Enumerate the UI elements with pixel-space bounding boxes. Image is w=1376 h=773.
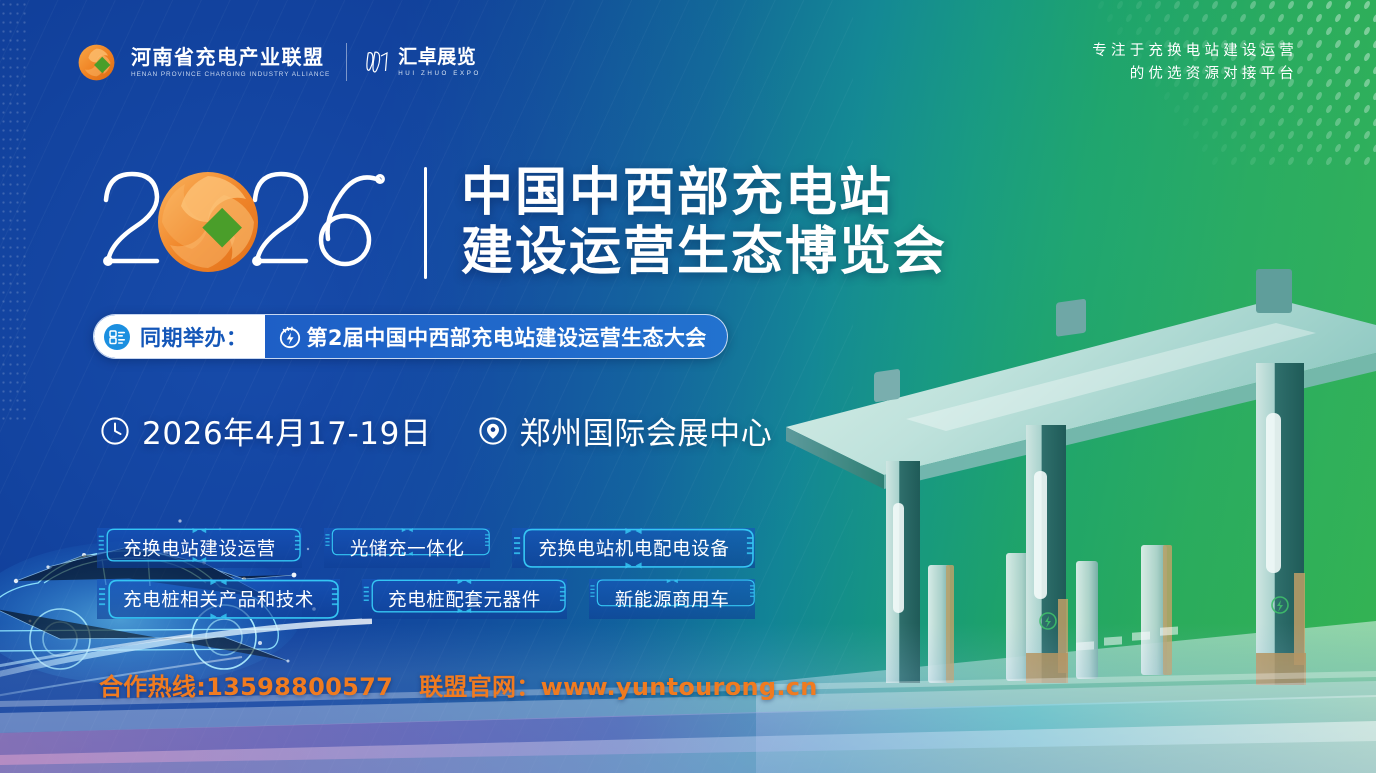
topic-tag-grid: 充换电站建设运营 光储充一体化 — [97, 528, 755, 619]
logo-lockup: 河南省充电产业联盟 HENAN PROVINCE CHARGING INDUST… — [78, 43, 481, 81]
alliance-name-en: HENAN PROVINCE CHARGING INDUSTRY ALLIANC… — [131, 71, 330, 78]
coevent-conference-name: 第2届中国中西部充电站建设运营生态大会 — [307, 322, 707, 352]
coevent-label: 同期举办： — [140, 322, 248, 352]
event-meta: 2026年4月17-19日 郑州国际会展中心 — [100, 408, 772, 453]
topic-tag[interactable]: 光储充一体化 — [324, 528, 491, 568]
hero-title-block: 中国中西部充电站 建设运营生态博览会 — [92, 160, 947, 285]
event-venue: 郑州国际会展中心 — [520, 408, 773, 453]
coevent-banner[interactable]: 同期举办： 第2届中国中西部充电站建设运营生态大会 — [93, 314, 728, 359]
topic-tag-label: 新能源商用车 — [615, 586, 730, 612]
expo-name-en: HUI ZHUO EXPO — [398, 70, 481, 77]
coevent-left-section: 同期举办： — [94, 315, 265, 358]
charging-station-illustration — [756, 213, 1376, 773]
topic-tag-row-1: 充换电站建设运营 光储充一体化 — [97, 528, 755, 568]
alliance-name-cn: 河南省充电产业联盟 — [131, 47, 330, 68]
pinwheel-logo-icon — [78, 44, 115, 81]
topic-tag[interactable]: 新能源商用车 — [589, 579, 756, 619]
topic-tag[interactable]: 充电桩配套元器件 — [362, 579, 567, 619]
year-2026-graphic — [92, 160, 402, 285]
topic-tag[interactable]: 充换电站机电配电设备 — [512, 528, 755, 568]
alliance-logo-text: 河南省充电产业联盟 HENAN PROVINCE CHARGING INDUST… — [131, 47, 330, 78]
topic-tag-label: 充换电站建设运营 — [123, 535, 276, 561]
topic-tag-label: 充换电站机电配电设备 — [538, 535, 729, 561]
topic-tag-label: 充电桩配套元器件 — [388, 586, 541, 612]
coevent-right-section: 第2届中国中西部充电站建设运营生态大会 — [265, 315, 727, 358]
tagline-line-1: 专注于充换电站建设运营 — [1092, 40, 1298, 63]
topic-tag-row-2: 充电桩相关产品和技术 充电桩配套元器件 — [97, 579, 755, 619]
event-poster: 河南省充电产业联盟 HENAN PROVINCE CHARGING INDUST… — [0, 0, 1376, 773]
expo-logo: 汇卓展览 HUI ZHUO EXPO — [363, 47, 481, 77]
clock-icon — [100, 416, 130, 446]
header-tagline: 专注于充换电站建设运营 的优选资源对接平台 — [1092, 40, 1298, 87]
topic-tag-label: 充电桩相关产品和技术 — [123, 586, 314, 612]
website-text[interactable]: 联盟官网：www.yuntourong.cn — [419, 667, 818, 702]
huizhuo-monogram-icon — [363, 47, 393, 77]
expo-name-cn: 汇卓展览 — [398, 48, 481, 67]
main-title: 中国中西部充电站 建设运营生态博览会 — [461, 164, 947, 280]
charging-bolt-icon — [277, 324, 303, 350]
list-card-icon — [103, 323, 131, 351]
tagline-line-2: 的优选资源对接平台 — [1092, 63, 1298, 86]
contact-row: 合作热线:13598800577 联盟官网：www.yuntourong.cn — [99, 667, 818, 702]
main-title-line-1: 中国中西部充电站 — [461, 164, 947, 222]
poster-header: 河南省充电产业联盟 HENAN PROVINCE CHARGING INDUST… — [0, 0, 1376, 120]
title-divider — [424, 167, 427, 279]
location-pin-icon — [478, 416, 508, 446]
event-date-item: 2026年4月17-19日 — [100, 408, 432, 453]
event-date: 2026年4月17-19日 — [142, 408, 432, 453]
main-title-line-2: 建设运营生态博览会 — [461, 223, 947, 281]
topic-tag[interactable]: 充换电站建设运营 — [97, 528, 302, 568]
logo-divider — [346, 43, 347, 81]
hotline-text[interactable]: 合作热线:13598800577 — [99, 667, 393, 702]
topic-tag[interactable]: 充电桩相关产品和技术 — [97, 579, 340, 619]
topic-tag-label: 光储充一体化 — [350, 535, 465, 561]
event-venue-item: 郑州国际会展中心 — [478, 408, 773, 453]
